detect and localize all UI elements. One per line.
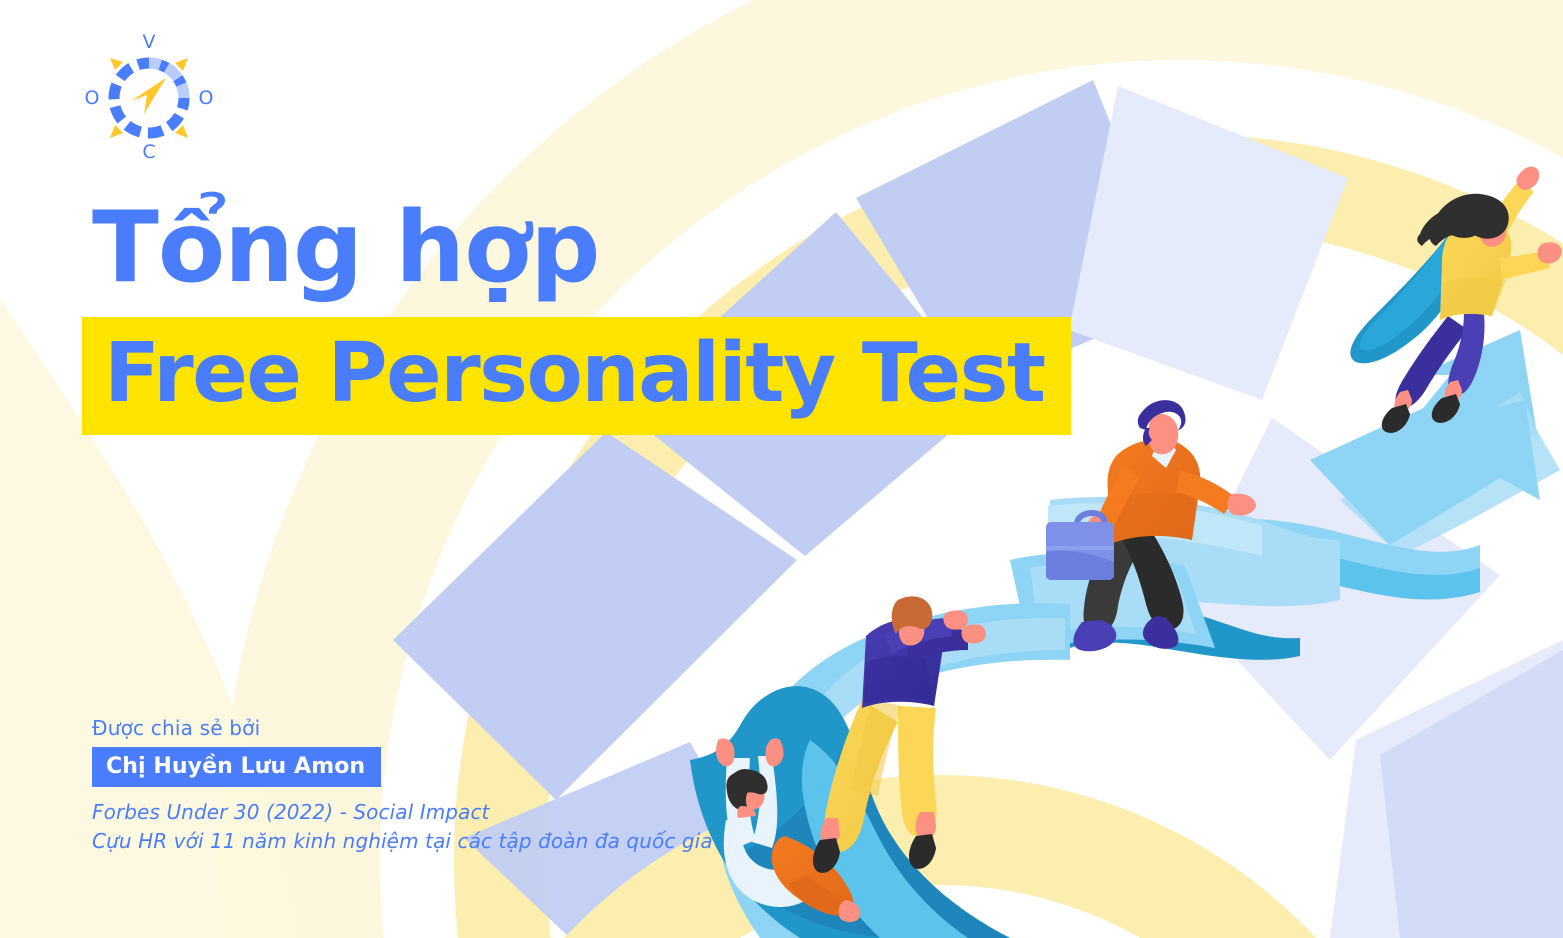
credit-subtitle-group: Forbes Under 30 (2022) - Social Impact C… xyxy=(92,798,713,856)
page-title-line-2: Free Personality Test xyxy=(104,331,1045,417)
logo-letter-top: V xyxy=(143,31,156,53)
logo-letter-left: O xyxy=(85,87,100,109)
credit-subtitle-line-2: Cựu HR với 11 năm kinh nghiệm tại các tậ… xyxy=(92,827,713,856)
vooc-compass-logo[interactable]: V O O C xyxy=(84,28,214,163)
presentation-slide: V O O C Tổng hợp Free Personality Test xyxy=(0,0,1563,938)
shoe xyxy=(909,834,936,869)
credit-block: Được chia sẻ bởi Chị Huyền Lưu Amon Forb… xyxy=(92,716,713,856)
hand xyxy=(1228,494,1257,516)
hand xyxy=(962,624,987,643)
hand xyxy=(1516,167,1539,190)
logo-letter-right: O xyxy=(199,87,214,109)
page-title-line-1: Tổng hợp xyxy=(82,195,1071,301)
hand xyxy=(1538,242,1563,263)
credit-subtitle-line-1: Forbes Under 30 (2022) - Social Impact xyxy=(92,798,713,827)
face xyxy=(1148,414,1178,455)
title-highlight-box: Free Personality Test xyxy=(82,317,1071,435)
credit-intro-label: Được chia sẻ bởi xyxy=(92,716,713,740)
compass-needle-icon xyxy=(131,78,166,114)
slide-title-block: Tổng hợp Free Personality Test xyxy=(82,195,1071,435)
credit-name-badge: Chị Huyền Lưu Amon xyxy=(92,747,381,787)
hand xyxy=(944,610,969,629)
logo-letter-bottom: C xyxy=(142,141,155,163)
